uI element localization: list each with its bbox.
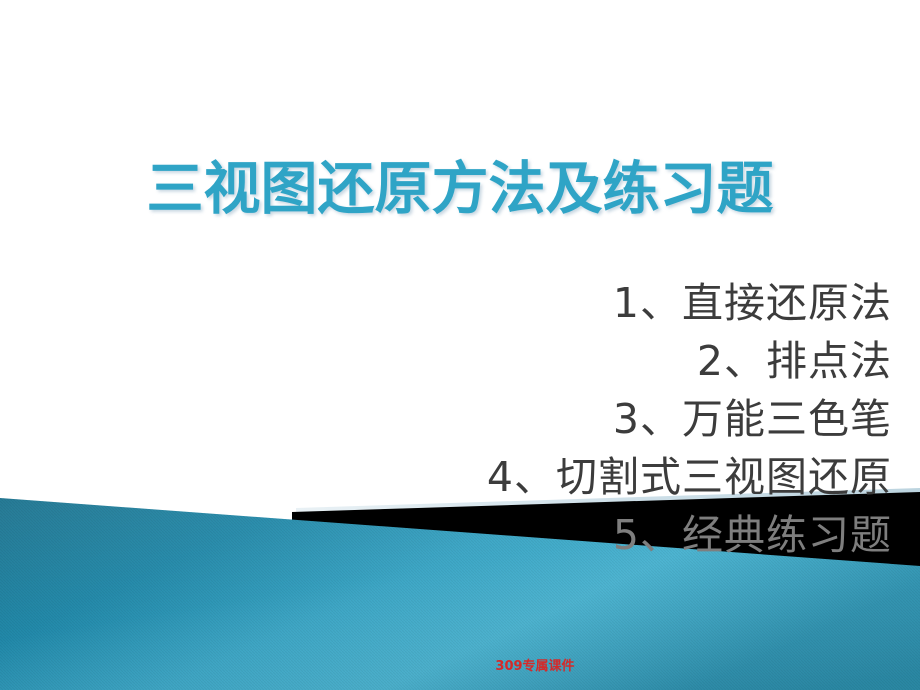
footer: 309专属课件	[0, 655, 920, 675]
page-title: 三视图还原方法及练习题	[40, 160, 880, 220]
watermark-text: 309专属课件	[345, 659, 574, 674]
slide-canvas: 三视图还原方法及练习题 1、直接还原法 2、排点法 3、万能三色笔 4、切割式三…	[0, 0, 920, 690]
agenda-item-1: 1、直接还原法	[20, 274, 892, 332]
agenda-item-3: 3、万能三色笔	[20, 390, 892, 448]
agenda-item-2: 2、排点法	[20, 332, 892, 390]
agenda-item-5: 5、经典练习题	[20, 506, 892, 564]
agenda-item-4: 4、切割式三视图还原	[20, 448, 892, 506]
agenda-list: 1、直接还原法 2、排点法 3、万能三色笔 4、切割式三视图还原 5、经典练习题	[20, 274, 892, 564]
